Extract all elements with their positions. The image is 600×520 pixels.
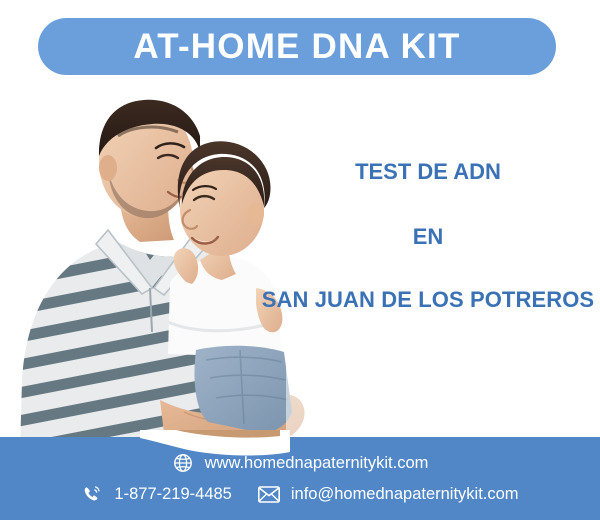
footer-email-text: info@homednapaternitykit.com	[291, 486, 519, 503]
footer-email-item[interactable]: info@homednapaternitykit.com	[258, 483, 519, 505]
headline-line-3-location: SAN JUAN DE LOS POTREROS	[246, 288, 600, 311]
header-banner: AT-HOME DNA KIT	[38, 18, 556, 75]
envelope-icon	[258, 483, 280, 505]
phone-icon	[81, 483, 103, 505]
footer-phone-item[interactable]: 1-877-219-4485	[81, 483, 231, 505]
footer-contact-band	[0, 437, 600, 520]
footer-website-item[interactable]: www.homednapaternitykit.com	[172, 452, 429, 474]
footer-phone-text: 1-877-219-4485	[114, 486, 231, 503]
headline-line-2: EN	[246, 225, 600, 248]
footer-contact-row: 1-877-219-4485 info@homednapaternitykit.…	[0, 483, 600, 505]
footer-website-row: www.homednapaternitykit.com	[0, 452, 600, 474]
header-banner-title: AT-HOME DNA KIT	[133, 29, 460, 64]
promotional-banner-image: AT-HOME DNA KIT	[0, 0, 600, 520]
footer-website-text: www.homednapaternitykit.com	[205, 455, 429, 472]
headline-line-1: TEST DE ADN	[246, 160, 600, 183]
headline-block: TEST DE ADN EN SAN JUAN DE LOS POTREROS	[250, 160, 600, 311]
globe-icon	[172, 452, 194, 474]
